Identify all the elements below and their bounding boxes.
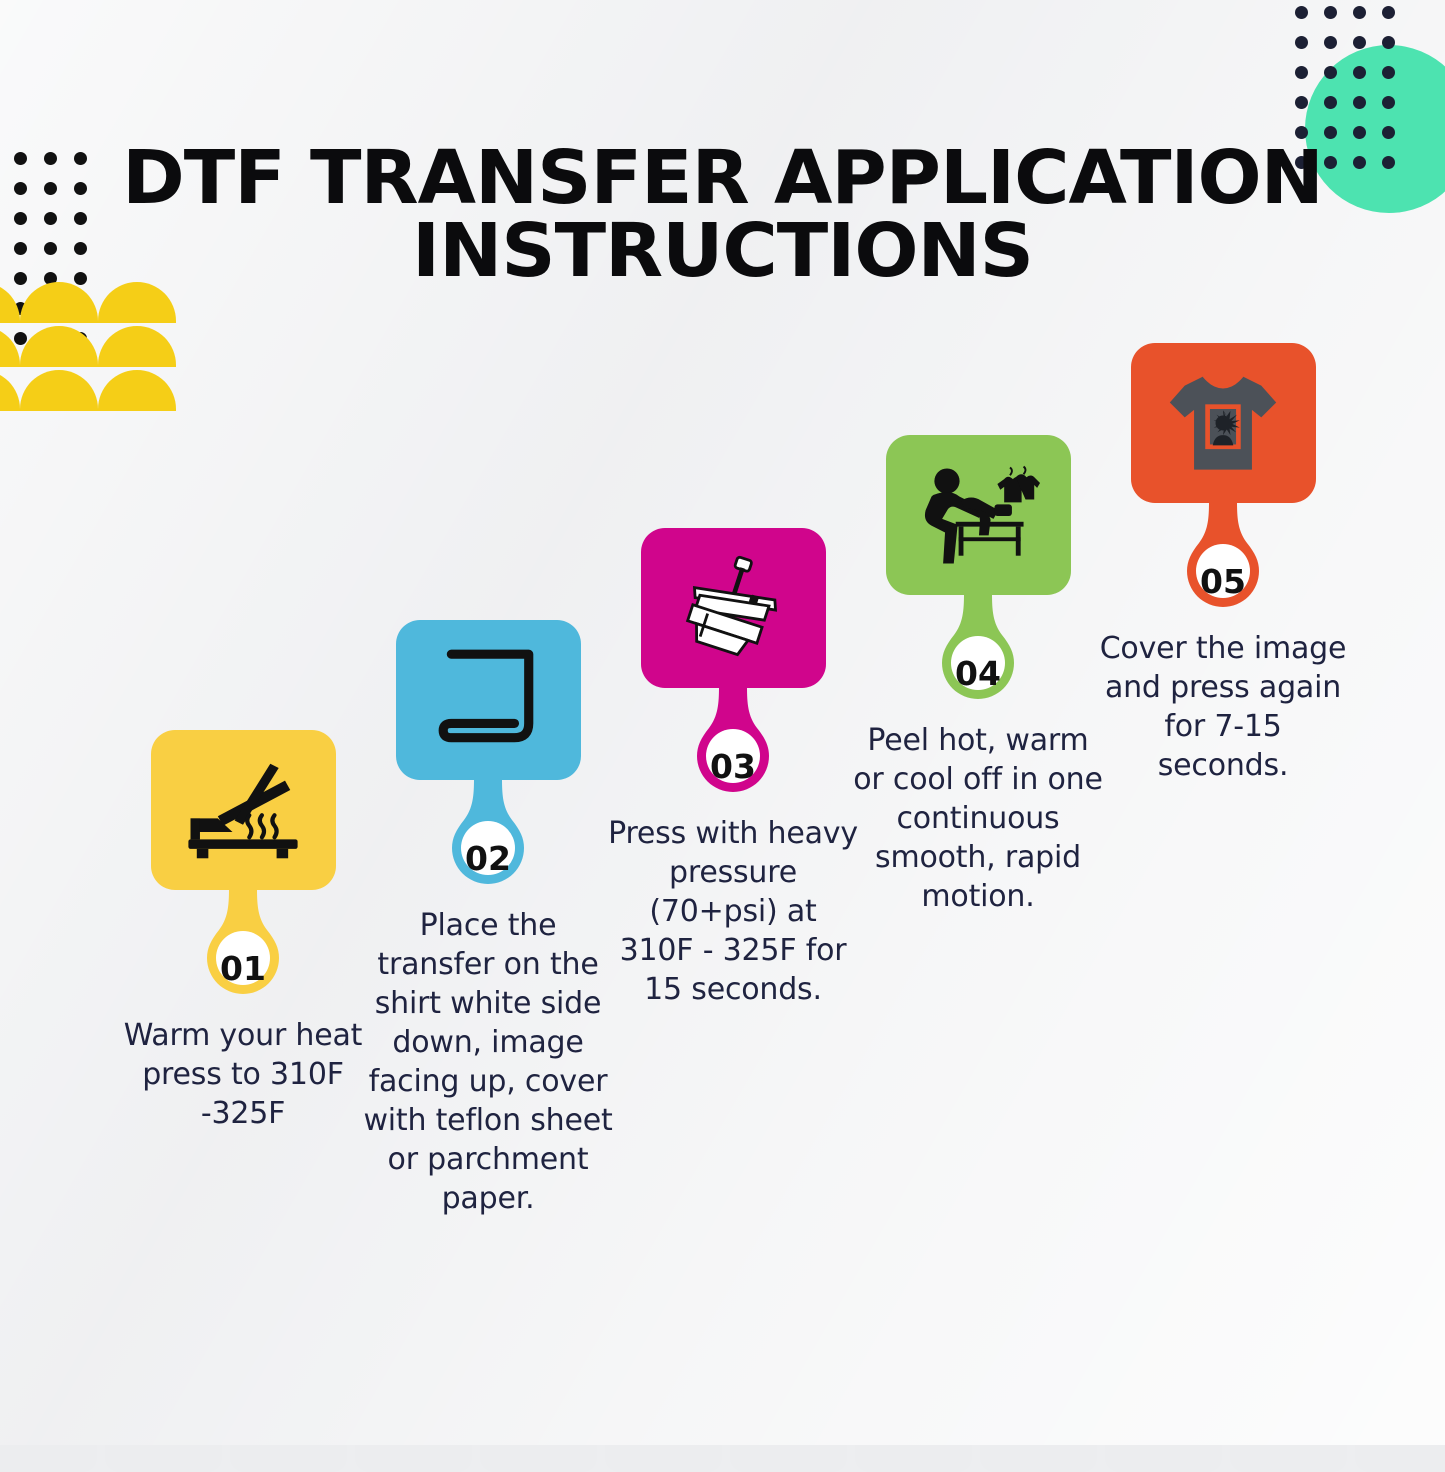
step-connector-05: 05 [1098, 503, 1348, 615]
heat-press-machine-icon [670, 552, 796, 664]
step-05: 05 Cover the image and press again for 7… [1098, 343, 1348, 785]
printed-tshirt-icon [1160, 367, 1286, 479]
transfer-sheet-icon [425, 644, 551, 756]
step-number-01: 01 [118, 890, 368, 1008]
step-icon-card-05[interactable] [1131, 343, 1316, 503]
step-icon-card-01[interactable] [151, 730, 336, 890]
step-description-03: Press with heavy pressure (70+psi) at 31… [608, 814, 858, 1009]
step-icon-card-03[interactable] [641, 528, 826, 688]
step-04: 04 Peel hot, warm or cool off in one con… [853, 435, 1103, 916]
step-number-04: 04 [853, 595, 1103, 713]
step-connector-01: 01 [118, 890, 368, 1002]
step-connector-02: 02 [363, 780, 613, 892]
heat-press-open-icon [180, 754, 306, 866]
step-number-05: 05 [1098, 503, 1348, 621]
step-description-01: Warm your heat press to 310F -325F [118, 1016, 368, 1133]
step-connector-03: 03 [608, 688, 858, 800]
step-number-02: 02 [363, 780, 613, 898]
steps-container: 01 Warm your heat press to 310F -325F 02… [0, 0, 1445, 1445]
step-01: 01 Warm your heat press to 310F -325F [118, 730, 368, 1133]
step-03: 03 Press with heavy pressure (70+psi) at… [608, 528, 858, 1009]
step-02: 02 Place the transfer on the shirt white… [363, 620, 613, 1218]
step-icon-card-02[interactable] [396, 620, 581, 780]
person-peeling-transfer-icon [915, 459, 1041, 571]
step-description-05: Cover the image and press again for 7-15… [1098, 629, 1348, 785]
step-number-03: 03 [608, 688, 858, 806]
step-icon-card-04[interactable] [886, 435, 1071, 595]
step-connector-04: 04 [853, 595, 1103, 707]
step-description-02: Place the transfer on the shirt white si… [363, 906, 613, 1218]
step-description-04: Peel hot, warm or cool off in one contin… [853, 721, 1103, 916]
